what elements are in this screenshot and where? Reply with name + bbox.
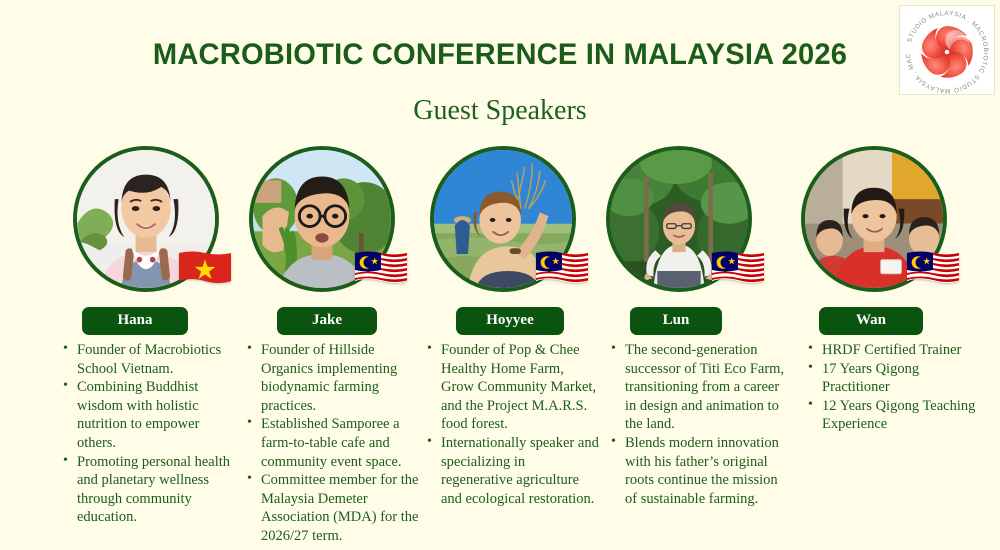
list-item: 12 Years Qigong Teaching Experience bbox=[808, 397, 978, 434]
list-item: Founder of Pop & Chee Healthy Home Farm,… bbox=[427, 341, 599, 434]
brand-logo: STUDIO MALAYSIA . MACROBIOTIC STUDIO MAL… bbox=[900, 6, 994, 94]
page-title: MACROBIOTIC CONFERENCE IN MALAYSIA 2026 bbox=[15, 38, 985, 72]
list-item: Blends modern innovation with his father… bbox=[611, 434, 787, 508]
speaker-name-wan: Wan bbox=[819, 307, 923, 335]
speaker-photo-wrap bbox=[73, 146, 219, 292]
list-item: Internationally speaker and specializing… bbox=[427, 434, 599, 508]
speaker-name-jake: Jake bbox=[277, 307, 377, 335]
speaker-card-hana: Hana Founder of Macrobiotics School Viet… bbox=[53, 146, 239, 527]
speaker-name-lun: Lun bbox=[630, 307, 722, 335]
speaker-bullets-lun: The second-generation successor of Titi … bbox=[600, 341, 787, 508]
speaker-bullets-hana: Founder of Macrobiotics School Vietnam. … bbox=[53, 341, 239, 527]
speaker-bullets-hoyyee: Founder of Pop & Chee Healthy Home Farm,… bbox=[418, 341, 599, 508]
list-item: Founder of Macrobiotics School Vietnam. bbox=[63, 341, 239, 378]
list-item: Established Samporee a farm-to-table caf… bbox=[247, 415, 425, 471]
speaker-photo-wrap bbox=[430, 146, 576, 292]
list-item: Founder of Hillside Organics implementin… bbox=[247, 341, 425, 415]
list-item: Combining Buddhist wisdom with holistic … bbox=[63, 378, 239, 452]
speaker-photo-wrap bbox=[249, 146, 395, 292]
list-item: Committee member for the Malaysia Demete… bbox=[247, 471, 425, 545]
speaker-card-lun: Lun The second-generation successor of T… bbox=[600, 146, 786, 508]
page-subtitle: Guest Speakers bbox=[0, 95, 1000, 127]
speaker-card-hoyyee: Hoyyee Founder of Pop & Chee Healthy Hom… bbox=[418, 146, 604, 508]
speaker-card-wan: Wan HRDF Certified Trainer 17 Years Qigo… bbox=[797, 146, 983, 434]
malaysia-flag-icon bbox=[905, 250, 961, 286]
speaker-name-hoyyee: Hoyyee bbox=[456, 307, 564, 335]
speaker-bullets-jake: Founder of Hillside Organics implementin… bbox=[237, 341, 425, 546]
malaysia-flag-icon bbox=[353, 250, 409, 286]
list-item: Promoting personal health and planetary … bbox=[63, 453, 239, 527]
malaysia-flag-icon bbox=[534, 250, 590, 286]
list-item: 17 Years Qigong Practitioner bbox=[808, 360, 978, 397]
vietnam-flag-icon bbox=[177, 250, 233, 286]
list-item: The second-generation successor of Titi … bbox=[611, 341, 787, 434]
speaker-card-jake: Jake Founder of Hillside Organics implem… bbox=[237, 146, 423, 546]
speakers-row: Hana Founder of Macrobiotics School Viet… bbox=[0, 146, 1000, 550]
malaysia-flag-icon bbox=[710, 250, 766, 286]
speaker-photo-wrap bbox=[801, 146, 947, 292]
speaker-bullets-wan: HRDF Certified Trainer 17 Years Qigong P… bbox=[797, 341, 978, 434]
logo-icon: STUDIO MALAYSIA . MACROBIOTIC STUDIO MAL… bbox=[900, 6, 994, 94]
list-item: HRDF Certified Trainer bbox=[808, 341, 978, 360]
speaker-name-hana: Hana bbox=[82, 307, 188, 335]
slide-canvas: MACROBIOTIC CONFERENCE IN MALAYSIA 2026 … bbox=[0, 0, 1000, 550]
speaker-photo-wrap bbox=[606, 146, 752, 292]
